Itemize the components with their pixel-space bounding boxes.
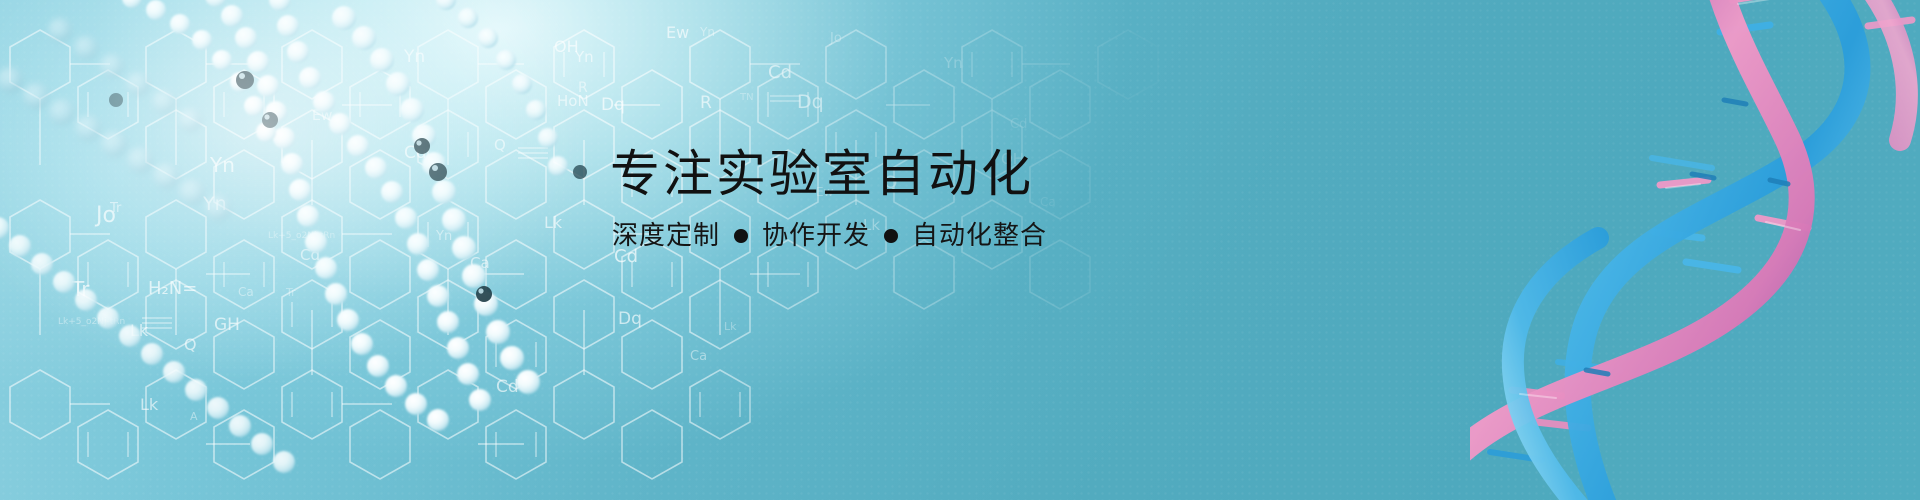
chem-label: R xyxy=(700,93,712,113)
chem-label: Cd xyxy=(768,62,792,83)
dna-helix-decoration xyxy=(1470,0,1920,500)
subtitle-separator-dot-1 xyxy=(734,229,748,243)
banner-headline: 专注实验室自动化 xyxy=(610,146,1250,202)
chem-label: Yn xyxy=(699,25,715,39)
subtitle-item-2: 协作开发 xyxy=(762,220,870,252)
chem-label: Lk xyxy=(724,320,737,333)
subtitle-separator-dot-2 xyxy=(884,229,898,243)
banner-text-block: 专注实验室自动化 深度定制 协作开发 自动化整合 xyxy=(610,146,1250,252)
subtitle-item-3: 自动化整合 xyxy=(912,220,1047,252)
chem-label: Cd xyxy=(1010,117,1027,132)
subtitle-item-1: 深度定制 xyxy=(612,220,720,252)
pearl-dna-decoration xyxy=(0,0,700,500)
chem-label: Yn xyxy=(943,54,963,72)
chem-label: TN xyxy=(739,92,754,103)
chem-label: Jo xyxy=(829,31,842,46)
hero-banner: YnCdJoYnEwYnRDqHoNRDqTNCdQEwJoTrYnYnH₂N=… xyxy=(0,0,1920,500)
banner-subtitle: 深度定制 协作开发 自动化整合 xyxy=(612,220,1250,252)
chem-label: Dq xyxy=(797,91,824,113)
